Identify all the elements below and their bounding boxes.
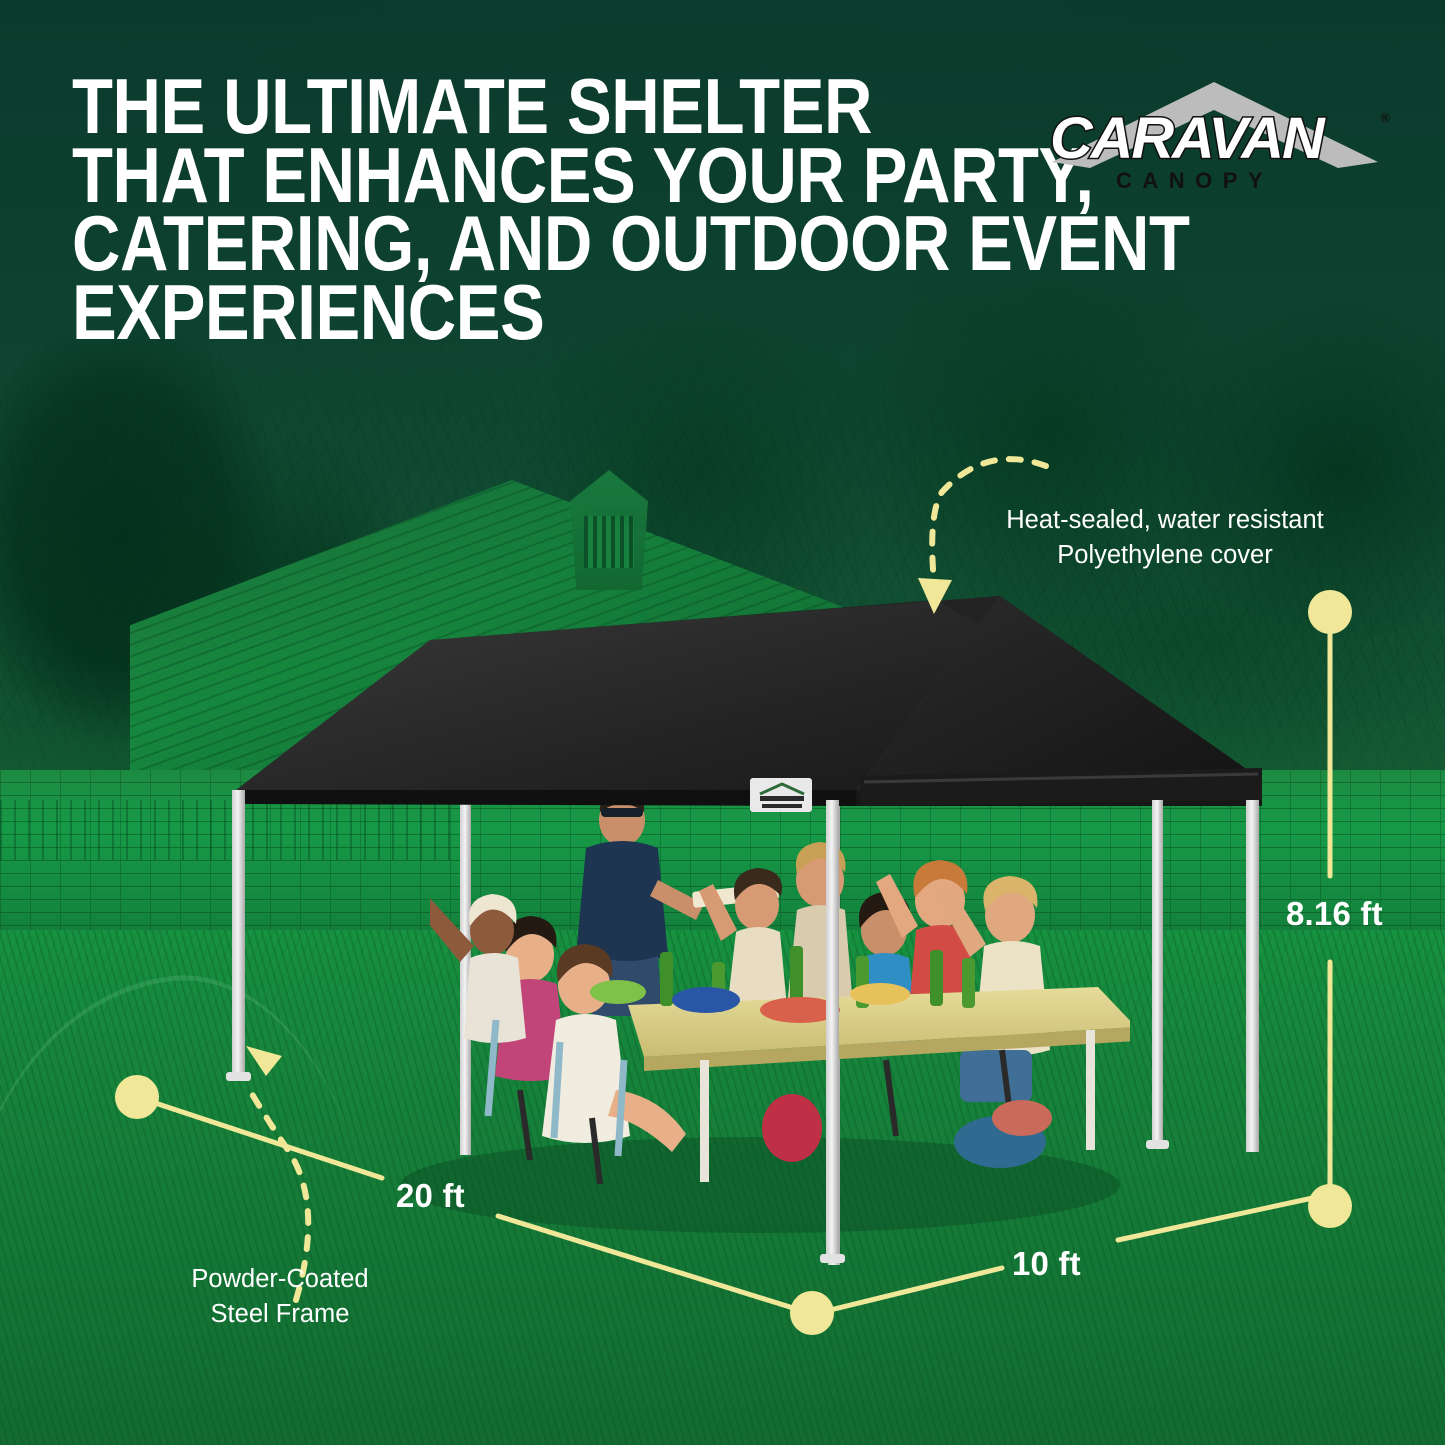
callout-frame-line1: Powder-Coated (165, 1262, 395, 1297)
callout-frame: Powder-Coated Steel Frame (165, 1262, 395, 1332)
logo-brand-text: CARAVAN (1050, 110, 1389, 168)
page-headline: THE ULTIMATE SHELTER THAT ENHANCES YOUR … (72, 72, 1044, 347)
brand-logo: CARAVAN ® CANOPY (1046, 76, 1386, 194)
dimension-label-depth: 10 ft (1012, 1245, 1081, 1283)
registered-trademark-icon: ® (1380, 110, 1390, 125)
dimension-label-width: 20 ft (396, 1177, 465, 1215)
callout-cover: Heat-sealed, water resistant Polyethylen… (985, 503, 1345, 573)
product-marketing-banner: THE ULTIMATE SHELTER THAT ENHANCES YOUR … (0, 0, 1445, 1445)
dimension-label-height: 8.16 ft (1286, 895, 1383, 933)
callout-cover-line2: Polyethylene cover (985, 538, 1345, 573)
headline-line-4: EXPERIENCES (72, 278, 1044, 347)
callout-cover-line1: Heat-sealed, water resistant (985, 503, 1345, 538)
logo-sub-text: CANOPY (1116, 168, 1273, 194)
callout-frame-line2: Steel Frame (165, 1297, 395, 1332)
